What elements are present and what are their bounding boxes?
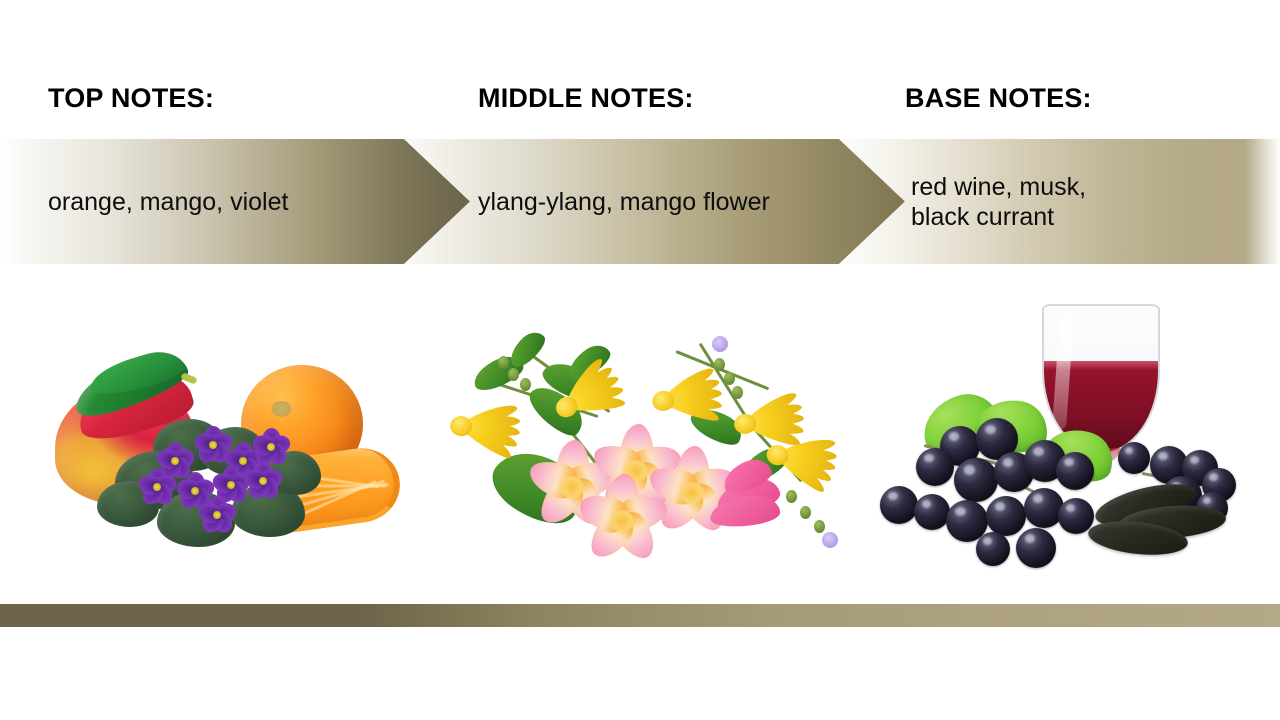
small-violet-blossom-icon — [822, 532, 838, 548]
flower-bud-icon — [800, 506, 811, 519]
plumeria-flower-icon — [576, 474, 668, 562]
blackcurrant-berry-icon — [976, 532, 1010, 566]
notes-text-top: orange, mango, violet — [48, 139, 398, 264]
blackcurrant-berry-icon — [1016, 528, 1056, 568]
flower-bud-icon — [786, 490, 797, 503]
flower-bud-icon — [508, 368, 519, 381]
flower-bud-icon — [520, 378, 531, 391]
top-notes-image — [45, 355, 405, 570]
blackcurrant-berry-icon — [954, 458, 998, 502]
notes-text-base: red wine, musk, black currant — [911, 139, 1241, 264]
flower-bud-icon — [732, 386, 743, 399]
blackcurrant-berry-icon — [914, 494, 950, 530]
flower-bud-icon — [498, 356, 509, 369]
fragrance-notes-slide: TOP NOTES: MIDDLE NOTES: BASE NOTES: ora… — [0, 0, 1280, 720]
orange-navel-icon — [271, 401, 292, 417]
blackcurrant-berry-icon — [1058, 498, 1094, 534]
ylang-ylang-flower-icon — [448, 400, 531, 458]
bottom-accent-bar — [0, 604, 1280, 627]
heading-top-notes: TOP NOTES: — [48, 82, 214, 114]
blackcurrant-berry-icon — [1118, 442, 1150, 474]
blackcurrant-berry-icon — [916, 448, 954, 486]
blackcurrant-berry-icon — [1056, 452, 1094, 490]
flower-bud-icon — [814, 520, 825, 533]
blackcurrant-berry-icon — [880, 486, 918, 524]
violet-flower-icon — [243, 461, 283, 499]
notes-text-middle: ylang-ylang, mango flower — [478, 139, 878, 264]
base-notes-image — [866, 300, 1258, 570]
violet-flower-icon — [137, 467, 177, 505]
heading-base-notes: BASE NOTES: — [905, 82, 1092, 114]
violet-flower-icon — [251, 427, 291, 465]
heading-middle-notes: MIDDLE NOTES: — [478, 82, 694, 114]
small-violet-blossom-icon — [712, 336, 728, 352]
blackcurrant-berry-icon — [986, 496, 1026, 536]
middle-notes-image — [448, 320, 840, 570]
violet-flower-icon — [197, 495, 237, 533]
blackcurrant-berry-icon — [1024, 488, 1064, 528]
notes-chevron-banner: orange, mango, violet ylang-ylang, mango… — [0, 139, 1280, 264]
